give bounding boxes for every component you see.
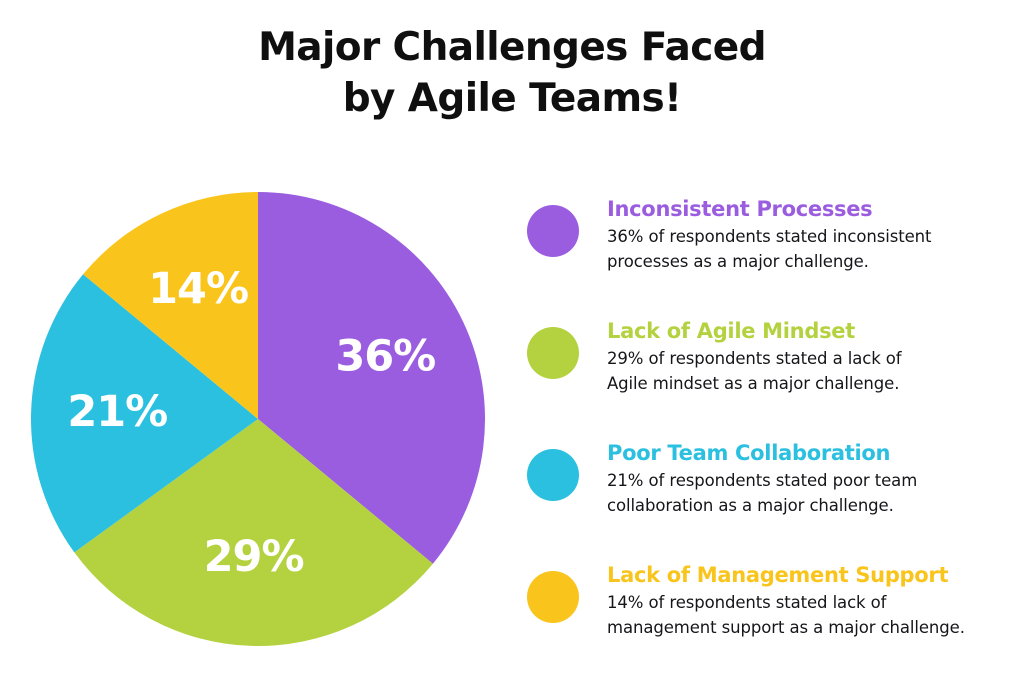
legend-heading-lack-of-management-support: Lack of Management Support [607, 562, 1007, 589]
legend-desc-line-1: 21% of respondents stated poor team [607, 468, 1007, 493]
legend-swatch-icon-purple [527, 205, 579, 257]
legend-desc-line-2: Agile mindset as a major challenge. [607, 371, 1007, 396]
legend-desc-line-1: 29% of respondents stated a lack of [607, 346, 1007, 371]
legend-description-lack-of-management-support: 14% of respondents stated lack of manage… [607, 590, 1007, 640]
infographic-canvas: Major Challenges Faced by Agile Teams! 3… [0, 0, 1024, 685]
legend-desc-line-2: collaboration as a major challenge. [607, 493, 1007, 518]
pie-label-lack-of-agile-mindset: 29% [204, 532, 304, 582]
pie-label-poor-team-collaboration: 21% [67, 387, 167, 437]
title-line-2: by Agile Teams! [0, 73, 1024, 124]
legend: Inconsistent Processes 36% of respondent… [527, 196, 1007, 663]
legend-swatch-icon-green [527, 327, 579, 379]
legend-swatch-icon-cyan [527, 449, 579, 501]
legend-description-poor-team-collaboration: 21% of respondents stated poor team coll… [607, 468, 1007, 518]
legend-item-inconsistent-processes[interactable]: Inconsistent Processes 36% of respondent… [527, 196, 1007, 297]
legend-desc-line-1: 14% of respondents stated lack of [607, 590, 1007, 615]
title-line-1: Major Challenges Faced [0, 22, 1024, 73]
legend-desc-line-2: processes as a major challenge. [607, 249, 1007, 274]
legend-item-lack-of-agile-mindset[interactable]: Lack of Agile Mindset 29% of respondents… [527, 318, 1007, 419]
legend-description-lack-of-agile-mindset: 29% of respondents stated a lack of Agil… [607, 346, 1007, 396]
legend-description-inconsistent-processes: 36% of respondents stated inconsistent p… [607, 224, 1007, 274]
legend-item-poor-team-collaboration[interactable]: Poor Team Collaboration 21% of responden… [527, 440, 1007, 541]
legend-heading-lack-of-agile-mindset: Lack of Agile Mindset [607, 318, 1007, 345]
pie-label-lack-of-management-support: 14% [148, 264, 248, 314]
legend-desc-line-2: management support as a major challenge. [607, 615, 1007, 640]
legend-heading-poor-team-collaboration: Poor Team Collaboration [607, 440, 1007, 467]
legend-swatch-icon-yellow [527, 571, 579, 623]
page-title: Major Challenges Faced by Agile Teams! [0, 22, 1024, 124]
pie-chart-svg: 36% 29% 21% 14% [30, 192, 486, 648]
legend-item-lack-of-management-support[interactable]: Lack of Management Support 14% of respon… [527, 562, 1007, 663]
legend-desc-line-1: 36% of respondents stated inconsistent [607, 224, 1007, 249]
legend-heading-inconsistent-processes: Inconsistent Processes [607, 196, 1007, 223]
pie-label-inconsistent-processes: 36% [335, 332, 435, 382]
pie-chart: 36% 29% 21% 14% [30, 192, 486, 648]
